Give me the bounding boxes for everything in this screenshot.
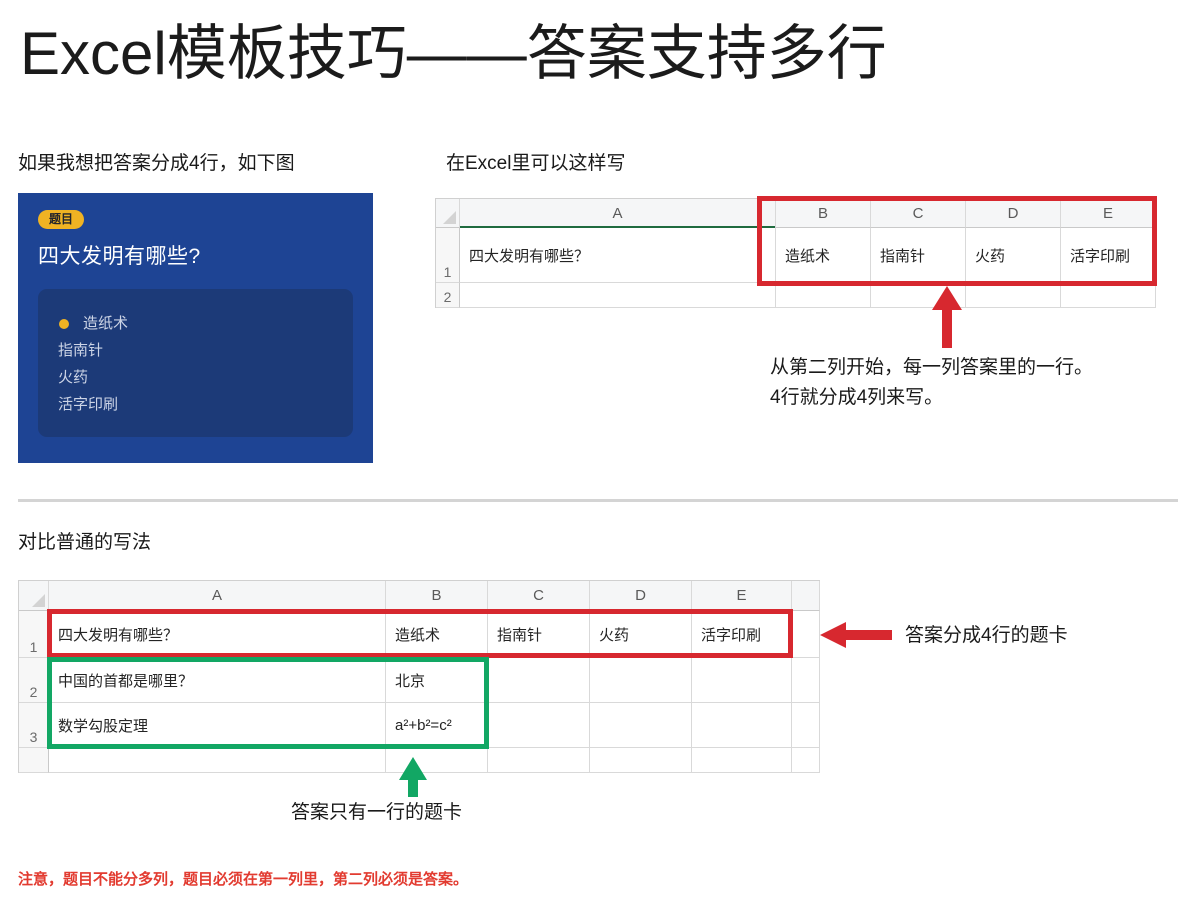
row-header-4[interactable] [19,748,49,773]
cell-f1[interactable] [792,611,820,658]
column-header-d[interactable]: D [590,581,692,611]
cell-e2[interactable] [1061,283,1156,308]
cell-b1[interactable]: 造纸术 [776,228,871,283]
cell-a2[interactable] [460,283,776,308]
cell-a2[interactable]: 中国的首都是哪里？ [49,658,386,703]
red-up-arrow-icon [930,286,964,348]
cell-e1[interactable]: 活字印刷 [1061,228,1156,283]
row-header-1[interactable]: 1 [19,611,49,658]
table-row: 3 数学勾股定理 a²+b²=c² [19,703,820,748]
column-header-e[interactable]: E [1061,199,1156,228]
cell-c4[interactable] [488,748,590,773]
cell-d3[interactable] [590,703,692,748]
answer-text: 造纸术 [83,315,128,332]
cell-b2[interactable]: 北京 [386,658,488,703]
cell-e3[interactable] [692,703,792,748]
column-header-b[interactable]: B [776,199,871,228]
annotation-top-line2: 4行就分成4列来写。 [770,383,1093,413]
row-header-2[interactable]: 2 [19,658,49,703]
cell-f2[interactable] [792,658,820,703]
annotation-top: 从第二列开始，每一列答案里的一行。 4行就分成4列来写。 [770,353,1093,413]
row-header-1[interactable]: 1 [436,228,460,283]
cell-c2[interactable] [488,658,590,703]
select-all-corner[interactable] [19,581,49,611]
answer-text: 指南针 [58,342,103,359]
cell-d2[interactable] [590,658,692,703]
column-header-a[interactable]: A [49,581,386,611]
answer-item: 活字印刷 [58,391,333,418]
cell-e4[interactable] [692,748,792,773]
cell-c3[interactable] [488,703,590,748]
column-header-row: A B C D E [19,581,820,611]
table-row: 1 四大发明有哪些？ 造纸术 指南针 火药 活字印刷 [436,228,1157,283]
quiz-answer-panel: 造纸术 指南针 火药 活字印刷 [38,289,353,437]
cell-a1[interactable]: 四大发明有哪些？ [49,611,386,658]
top-spreadsheet[interactable]: A B C D E 1 四大发明有哪些？ 造纸术 指南针 火药 活字印刷 2 [435,198,1157,308]
column-header-d[interactable]: D [966,199,1061,228]
cell-a4[interactable] [49,748,386,773]
quiz-question: 四大发明有哪些? [38,240,353,270]
cell-d2[interactable] [966,283,1061,308]
table-row: 2 中国的首都是哪里？ 北京 [19,658,820,703]
answer-text: 火药 [58,369,88,386]
cell-d1[interactable]: 火药 [966,228,1061,283]
table-row: 2 [436,283,1157,308]
status-badge: 题目 [38,210,84,229]
row-header-3[interactable]: 3 [19,703,49,748]
bottom-spreadsheet[interactable]: A B C D E 1 四大发明有哪些？ 造纸术 指南针 火药 活字印刷 2 中… [18,580,820,773]
answer-text: 活字印刷 [58,396,118,413]
column-header-b[interactable]: B [386,581,488,611]
cell-a1[interactable]: 四大发明有哪些？ [460,228,776,283]
annotation-bottom-green: 答案只有一行的题卡 [291,798,462,828]
cell-f4[interactable] [792,748,820,773]
column-header-e[interactable]: E [692,581,792,611]
cell-b2[interactable] [776,283,871,308]
column-header-c[interactable]: C [871,199,966,228]
caption-left-intro: 如果我想把答案分成4行，如下图 [18,148,295,175]
cell-b1[interactable]: 造纸术 [386,611,488,658]
cell-e1[interactable]: 活字印刷 [692,611,792,658]
select-all-corner[interactable] [436,199,460,228]
column-header-row: A B C D E [436,199,1157,228]
cell-d1[interactable]: 火药 [590,611,692,658]
footer-warning-note: 注意，题目不能分多列，题目必须在第一列里，第二列必须是答案。 [18,868,468,889]
column-header-a[interactable]: A [460,199,776,228]
answer-item: 火药 [58,364,333,391]
caption-bottom-intro: 对比普通的写法 [18,527,151,554]
column-header-c[interactable]: C [488,581,590,611]
annotation-bottom-red: 答案分成4行的题卡 [905,621,1068,651]
row-header-2[interactable]: 2 [436,283,460,308]
page-title: Excel模板技巧——答案支持多行 [20,18,887,90]
answer-item: 造纸术 [58,310,333,337]
cell-b3[interactable]: a²+b²=c² [386,703,488,748]
section-divider [18,499,1178,502]
red-left-arrow-icon [820,621,892,649]
caption-right-intro: 在Excel里可以这样写 [446,148,625,175]
quiz-card: 题目 四大发明有哪些? 造纸术 指南针 火药 活字印刷 [18,193,373,463]
annotation-top-line1: 从第二列开始，每一列答案里的一行。 [770,353,1093,383]
cell-e2[interactable] [692,658,792,703]
cell-c1[interactable]: 指南针 [488,611,590,658]
green-up-arrow-icon [398,757,428,797]
answer-item: 指南针 [58,337,333,364]
cell-d4[interactable] [590,748,692,773]
table-row: 1 四大发明有哪些？ 造纸术 指南针 火药 活字印刷 [19,611,820,658]
cell-a3[interactable]: 数学勾股定理 [49,703,386,748]
cell-f3[interactable] [792,703,820,748]
column-a-selection-underline [460,226,775,228]
bullet-icon [59,319,69,329]
column-header-f[interactable] [792,581,820,611]
cell-c1[interactable]: 指南针 [871,228,966,283]
